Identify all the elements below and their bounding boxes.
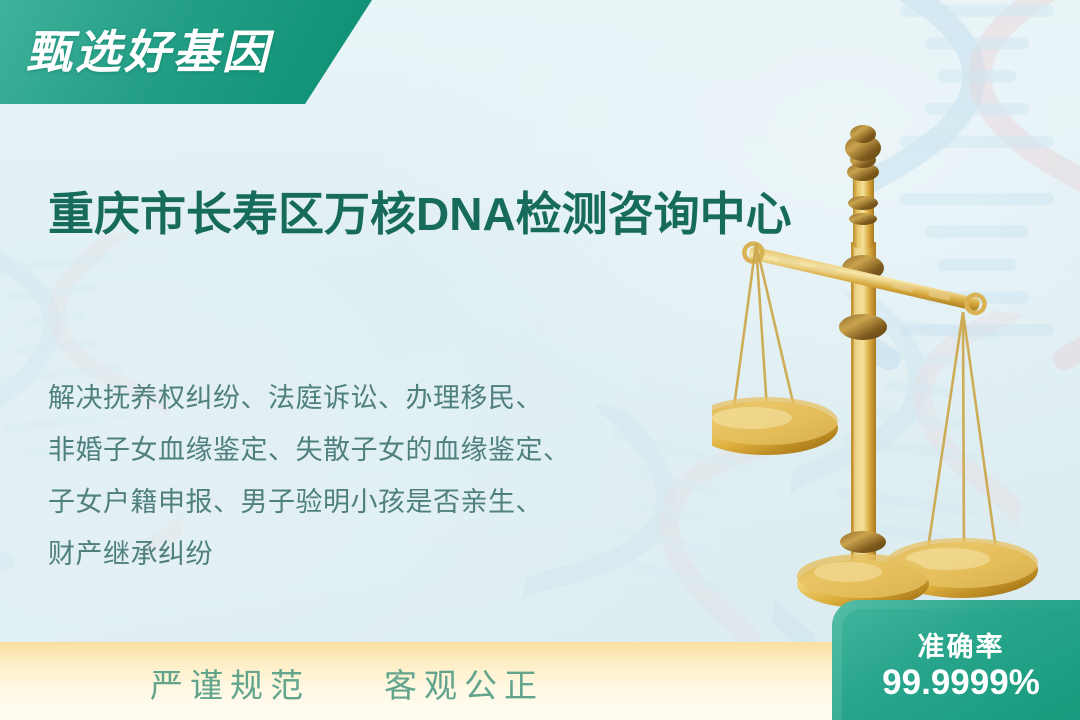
services-description: 解决抚养权纠纷、法庭诉讼、办理移民、 非婚子女血缘鉴定、失散子女的血缘鉴定、 子… xyxy=(48,372,748,580)
accuracy-badge-panel: 准确率 99.9999% xyxy=(842,609,1080,720)
accuracy-badge: 准确率 99.9999% xyxy=(832,600,1080,720)
accuracy-badge-value: 99.9999% xyxy=(842,663,1080,703)
slogan-item: 严谨规范 xyxy=(150,659,310,707)
page-title: 重庆市长寿区万核DNA检测咨询中心 xyxy=(48,183,838,245)
services-line: 非婚子女血缘鉴定、失散子女的血缘鉴定、 xyxy=(48,424,748,476)
services-line: 财产继承纠纷 xyxy=(48,528,748,580)
brand-ribbon-label: 甄选好基因 xyxy=(26,16,271,82)
services-line: 解决抚养权纠纷、法庭诉讼、办理移民、 xyxy=(48,372,748,424)
accuracy-badge-title: 准确率 xyxy=(842,625,1080,664)
slogan-item: 客观公正 xyxy=(384,659,544,707)
services-line: 子女户籍申报、男子验明小孩是否亲生、 xyxy=(48,476,748,528)
promo-poster: 甄选好基因 重庆市长寿区万核DNA检测咨询中心 解决抚养权纠纷、法庭诉讼、办理移… xyxy=(0,0,1080,720)
